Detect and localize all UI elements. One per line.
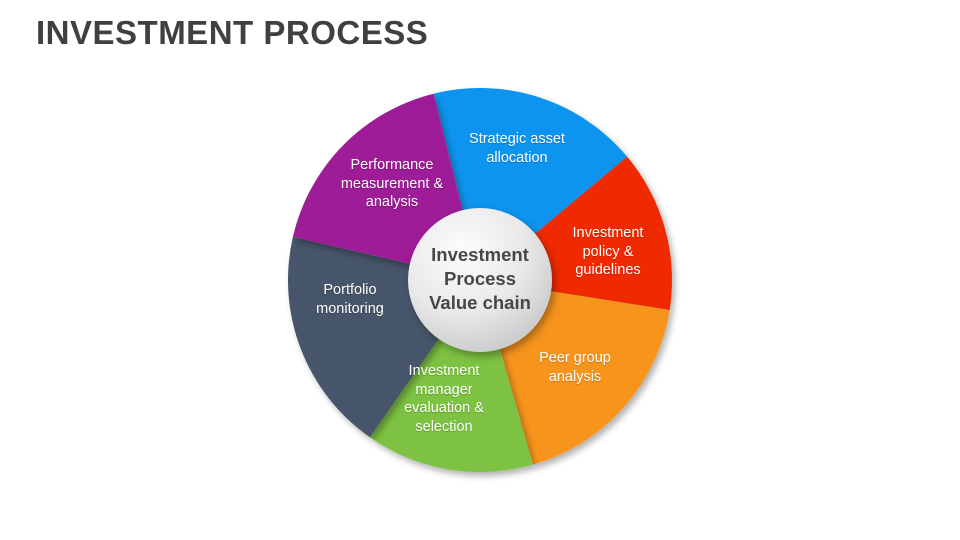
- slide-canvas: INVESTMENT PROCESS Strategic asset alloc…: [0, 0, 960, 540]
- hub-label: Investment Process Value chain: [395, 243, 565, 315]
